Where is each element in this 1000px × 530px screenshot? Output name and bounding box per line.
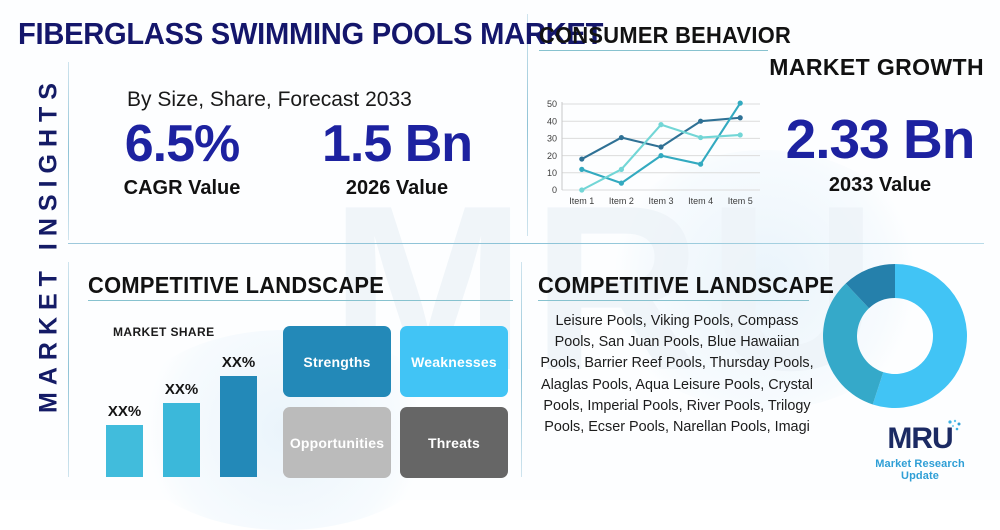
bar-value-label: XX% bbox=[222, 354, 255, 371]
bar-rect bbox=[163, 403, 200, 477]
bar-rect bbox=[106, 425, 143, 477]
bar-value-label: XX% bbox=[108, 403, 141, 420]
kpi-cagr-value: 6.5% bbox=[104, 118, 260, 170]
svg-text:Item 1: Item 1 bbox=[569, 196, 594, 206]
swot-weaknesses-label: Weaknesses bbox=[411, 354, 497, 370]
donut-chart-svg bbox=[822, 263, 968, 409]
donut-chart bbox=[822, 263, 968, 409]
bar-column: XX% bbox=[106, 335, 143, 477]
kpi-2033-value: 2.33 Bn bbox=[770, 112, 990, 167]
bar-value-label: XX% bbox=[165, 381, 198, 398]
page-subtitle: By Size, Share, Forecast 2033 bbox=[127, 88, 412, 112]
logo-tagline: Market Research Update bbox=[855, 458, 985, 482]
kpi-cagr-caption: CAGR Value bbox=[104, 177, 260, 200]
line-chart-svg: 01020304050Item 1Item 2Item 3Item 4Item … bbox=[538, 98, 764, 216]
section-title-competitive-landscape-left: COMPETITIVE LANDSCAPE bbox=[88, 272, 384, 299]
swot-strengths[interactable]: Strengths bbox=[283, 326, 391, 397]
bar-column: XX% bbox=[220, 335, 257, 477]
swot-strengths-label: Strengths bbox=[303, 354, 370, 370]
section-title-market-growth: MARKET GROWTH bbox=[769, 54, 984, 81]
divider-horizontal bbox=[68, 243, 984, 244]
svg-text:30: 30 bbox=[547, 134, 557, 144]
bar-chart: XX%XX%XX% bbox=[100, 335, 265, 477]
bar-rect bbox=[220, 376, 257, 477]
kpi-2033: 2.33 Bn 2033 Value bbox=[770, 112, 990, 197]
divider-vertical-middle-lower bbox=[521, 262, 522, 477]
logo-droplet-icon bbox=[946, 419, 962, 433]
bar-column: XX% bbox=[163, 335, 200, 477]
divider-vertical-left bbox=[68, 62, 69, 240]
section-rule-consumer-behavior bbox=[539, 50, 768, 51]
swot-opportunities-label: Opportunities bbox=[290, 435, 384, 451]
competitors-list: Leisure Pools, Viking Pools, Compass Poo… bbox=[538, 311, 816, 438]
swot-threats-label: Threats bbox=[428, 435, 480, 451]
svg-text:Item 4: Item 4 bbox=[688, 196, 713, 206]
section-title-consumer-behavior: CONSUMER BEHAVIOR bbox=[539, 22, 791, 49]
svg-text:Item 3: Item 3 bbox=[648, 196, 673, 206]
kpi-2026: 1.5 Bn 2026 Value bbox=[318, 118, 476, 200]
svg-text:0: 0 bbox=[552, 185, 557, 195]
kpi-2026-caption: 2026 Value bbox=[318, 177, 476, 200]
svg-text:20: 20 bbox=[547, 151, 557, 161]
logo-mark: MRU bbox=[887, 424, 952, 454]
svg-text:Item 5: Item 5 bbox=[728, 196, 753, 206]
section-title-competitive-landscape-right: COMPETITIVE LANDSCAPE bbox=[538, 272, 834, 299]
kpi-2026-value: 1.5 Bn bbox=[318, 118, 476, 170]
swot-threats[interactable]: Threats bbox=[400, 407, 508, 478]
swot-opportunities[interactable]: Opportunities bbox=[283, 407, 391, 478]
page-title: FIBERGLASS SWIMMING POOLS MARKET bbox=[18, 16, 603, 52]
kpi-cagr: 6.5% CAGR Value bbox=[104, 118, 260, 200]
svg-text:50: 50 bbox=[547, 99, 557, 109]
svg-text:Item 2: Item 2 bbox=[609, 196, 634, 206]
divider-vertical-left-lower bbox=[68, 262, 69, 477]
svg-text:10: 10 bbox=[547, 168, 557, 178]
line-chart: 01020304050Item 1Item 2Item 3Item 4Item … bbox=[538, 98, 764, 216]
svg-text:40: 40 bbox=[547, 116, 557, 126]
infographic-canvas: MRU MARKET INSIGHTS FIBERGLASS SWIMMING … bbox=[0, 0, 1000, 500]
brand-logo: MRU Market Research Update bbox=[855, 424, 985, 482]
swot-grid: StrengthsWeaknessesOpportunitiesThreats bbox=[283, 326, 510, 478]
logo-mark-text: MRU bbox=[887, 422, 952, 455]
section-rule-competitive-landscape-left bbox=[88, 300, 513, 301]
section-rule-competitive-landscape-right bbox=[538, 300, 809, 301]
swot-weaknesses[interactable]: Weaknesses bbox=[400, 326, 508, 397]
side-banner-label: MARKET INSIGHTS bbox=[35, 35, 64, 455]
kpi-2033-caption: 2033 Value bbox=[770, 174, 990, 197]
